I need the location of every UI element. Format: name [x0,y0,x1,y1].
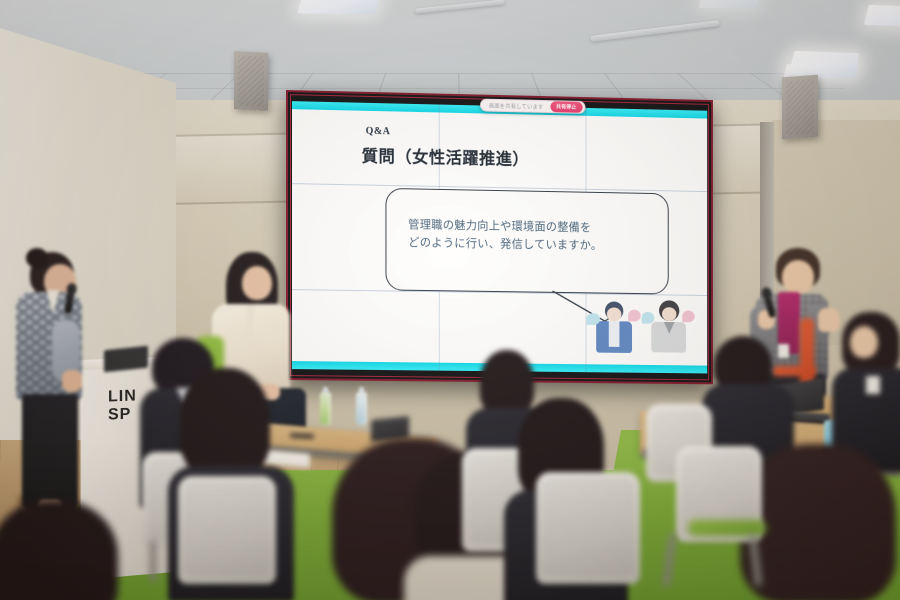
ceiling-light-2 [864,5,900,27]
water-bottle-green [320,392,331,425]
share-status-label: 画面を共有しています [489,101,544,110]
podium-logo-line-2: SP [108,405,137,424]
ceiling-rail-1 [415,0,505,14]
stop-sharing-button[interactable]: 共有停止 [550,101,582,113]
chair-audience-2 [178,476,276,584]
foreground-left-hair [0,500,118,600]
chair-audience-1-leg [150,540,156,582]
question-text: 管理職の魅力向上や環境面の整備を どのように行い、発信していますか。 [408,217,652,256]
ceiling-light-1 [297,0,380,15]
slide-eyebrow: Q&A [366,126,391,137]
wall-speaker-left [234,51,268,111]
illustration-person-male-shirt [609,321,620,347]
illustration-bubble-male-left [586,313,600,325]
wall-speaker-right [782,75,818,140]
ceiling-rail-2 [590,20,720,42]
slide-title: 質問（女性活躍推進） [362,143,529,170]
illustration-bubble-female-left [642,312,655,324]
screen-share-control-bar[interactable]: 画面を共有しています 共有停止 [480,99,585,114]
illustration-bubble-male-right [628,310,641,322]
speaker-left-bun [26,248,48,268]
panelist-face [242,266,272,300]
question-line-2: どのように行い、発信していますか。 [408,235,652,257]
presentation-slide: Q&A 質問（女性活躍推進） 管理職の魅力向上や環境面の整備を どのように行い、… [292,101,707,373]
audience-8-face [850,326,878,358]
illustration-person-female-face [662,307,676,321]
speaker-left-hand [62,370,82,392]
person-foreground-left [0,500,120,600]
audience-2-hair [180,368,270,478]
ceiling-light-6 [699,0,760,8]
speaker-right-face [782,260,814,294]
audience-8-badge [866,376,880,394]
podium-logo: LIN SP [108,387,137,424]
people-illustration [584,297,698,359]
seminar-room-photo: Q&A 質問（女性活躍推進） 管理職の魅力向上や環境面の整備を どのように行い、… [0,0,900,600]
illustration-bubble-female-right [682,310,695,322]
water-bottle-clear [356,392,367,425]
illustration-person-male-face [607,307,622,321]
speaker-left-trousers [22,394,78,510]
chair-audience-6 [536,472,640,584]
wall-display[interactable]: Q&A 質問（女性活躍推進） 管理職の魅力向上や環境面の整備を どのように行い、… [286,90,713,384]
question-speech-bubble: 管理職の魅力向上や環境面の整備を どのように行い、発信していますか。 [385,188,668,295]
podium-logo-line-1: LIN [108,387,137,406]
